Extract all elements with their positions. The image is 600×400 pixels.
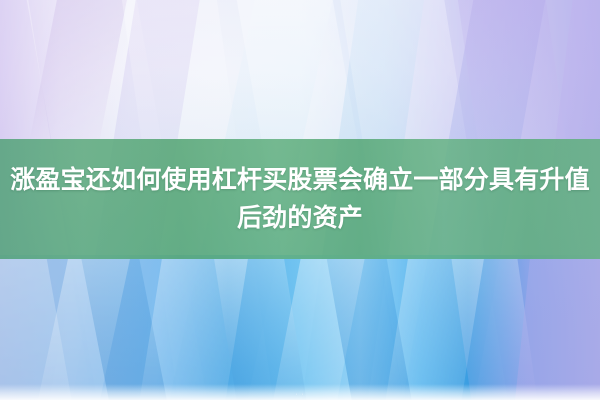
facet-shard-lower-8 — [384, 259, 484, 400]
facet-shard-lower-4 — [138, 259, 248, 400]
facet-shard-lower-1 — [0, 259, 73, 400]
page-title: 涨盈宝还如何使用杠杆买股票会确立一部分具有升值后劲的资产 — [0, 161, 600, 237]
banner-image: 涨盈宝还如何使用杠杆买股票会确立一部分具有升值后劲的资产 · · — [0, 0, 600, 400]
facet-shard-lower-2 — [36, 259, 130, 400]
facet-shard-lower-5 — [214, 259, 308, 400]
background-facet-group-lower — [0, 259, 600, 400]
headline-line-1: 涨盈宝还如何使用杠杆买股票会确立一部分具有升 — [10, 166, 564, 194]
facet-shard-lower-10 — [514, 259, 600, 400]
facet-shard-lower-3 — [81, 259, 168, 400]
facet-shard-lower-6 — [271, 259, 364, 400]
watermark-text: · · — [0, 391, 600, 398]
facet-shard-lower-9 — [451, 259, 538, 400]
headline-band: 涨盈宝还如何使用杠杆买股票会确立一部分具有升值后劲的资产 — [0, 139, 600, 259]
facet-shard-lower-7 — [327, 259, 413, 400]
